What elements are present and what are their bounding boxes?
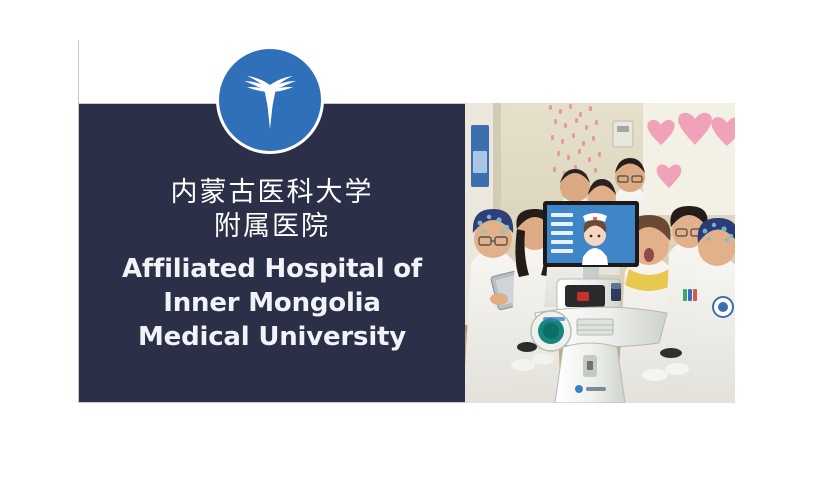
slide-canvas: 内蒙古医科大学 附属医院 Affiliated Hospital of Inne… <box>0 0 813 484</box>
photo-scene <box>465 103 735 403</box>
identity-text-block: 内蒙古医科大学 附属医院 Affiliated Hospital of Inne… <box>79 176 465 354</box>
english-name-line-3: Medical University <box>93 320 451 354</box>
left-margin-rule <box>78 40 79 104</box>
chinese-name-line-2: 附属医院 <box>93 210 451 244</box>
english-name-line-1: Affiliated Hospital of <box>93 252 451 286</box>
chinese-name-line-1: 内蒙古医科大学 <box>93 176 451 210</box>
hospital-robot-photo <box>465 103 735 403</box>
hospital-wings-emblem-icon <box>216 46 324 154</box>
english-name: Affiliated Hospital of Inner Mongolia Me… <box>93 252 451 354</box>
english-name-line-2: Inner Mongolia <box>93 286 451 320</box>
